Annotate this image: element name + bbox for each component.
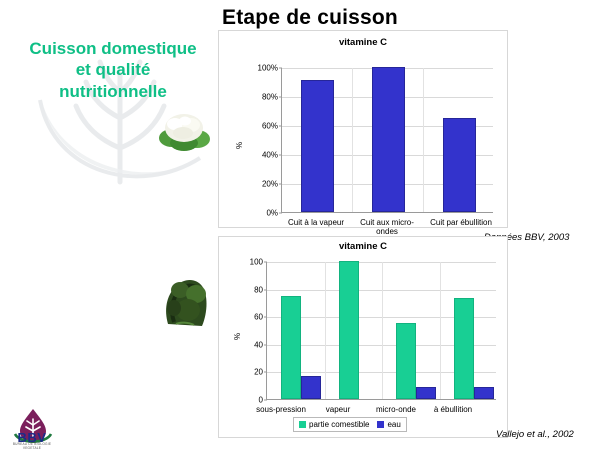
- chart2-xlabel-micro-onde: micro-onde: [367, 405, 425, 414]
- page-title: Etape de cuisson: [150, 6, 470, 30]
- subtitle-line-3: nutritionnelle: [8, 81, 218, 102]
- chart1-category-separator: [423, 68, 424, 212]
- chart1-xlabel-0: Cuit à la vapeur: [281, 218, 351, 227]
- chart2-tickmark: [264, 289, 267, 290]
- chart1-tickmark: [279, 126, 282, 127]
- chart2-bar-eau-micro-onde[interactable]: [416, 387, 436, 399]
- chart2-plot-area: 100 80 60 40 20 0: [266, 262, 496, 400]
- chart1-ytick-label: 60%: [262, 122, 278, 131]
- chart2-ytick-label: 0: [259, 396, 263, 405]
- chart2-bar-comestible-sous-pression[interactable]: [281, 296, 301, 400]
- chart2-ytick-label: 20: [254, 368, 263, 377]
- chart2-xlabel-ebullition: à ébullition: [424, 405, 482, 414]
- chart1-title: vitamine C: [219, 37, 507, 48]
- chart2-title: vitamine C: [219, 241, 507, 252]
- chart2-tickmark: [264, 344, 267, 345]
- chart1-xlabel-2: Cuit par ébullition: [423, 218, 499, 227]
- chart1-xlabel-1-line1: Cuit aux micro-: [352, 218, 422, 227]
- legend-item-partie-comestible[interactable]: partie comestible: [299, 420, 369, 429]
- chart1-tickmark: [279, 184, 282, 185]
- legend-swatch-green-icon: [299, 421, 306, 428]
- chart1-xlabel-0-line1: Cuit à la vapeur: [281, 218, 351, 227]
- chart1-ytick-label: 20%: [262, 180, 278, 189]
- chart2-ytick-label: 80: [254, 285, 263, 294]
- cauliflower-image: [155, 108, 213, 152]
- chart2-bar-comestible-vapeur[interactable]: [339, 261, 359, 399]
- source-note-chart2: Vallejo et al., 2002: [496, 429, 574, 440]
- chart1-xlabel-1-line2: ondes: [352, 227, 422, 236]
- chart-vitamine-c-bottom: vitamine C % 100 80 60 40 20 0: [218, 236, 508, 438]
- bbv-logo-tagline: BUREAU DE BIOLOGIE VEGETALE: [4, 442, 60, 450]
- subtitle-line-2: et qualité: [8, 59, 218, 80]
- legend-label-eau: eau: [387, 420, 400, 429]
- chart2-xlabel-sous-pression: sous-pression: [252, 405, 310, 414]
- slide-canvas: Etape de cuisson Cuisson domestique et q…: [0, 0, 600, 450]
- chart2-category-separator: [325, 262, 326, 399]
- chart1-plot-area: 100% 80% 60% 40% 20% 0%: [281, 68, 493, 213]
- chart1-bar-cuit-micro-ondes[interactable]: [372, 67, 405, 212]
- chart2-legend: partie comestible eau: [293, 417, 407, 432]
- chart2-tickmark: [264, 317, 267, 318]
- chart1-ytick-label: 100%: [258, 64, 278, 73]
- broccoli-image: [158, 272, 210, 328]
- chart1-bar-cuit-ebullition[interactable]: [443, 118, 476, 212]
- chart1-ytick-label: 40%: [262, 151, 278, 160]
- chart2-tickmark: [264, 372, 267, 373]
- chart2-category-separator: [382, 262, 383, 399]
- chart2-bar-comestible-micro-onde[interactable]: [396, 323, 416, 399]
- chart1-ytick-label: 0%: [266, 209, 278, 218]
- chart1-ytick-label: 80%: [262, 93, 278, 102]
- legend-label-partie-comestible: partie comestible: [309, 420, 369, 429]
- chart1-xlabel-1: Cuit aux micro- ondes: [352, 218, 422, 236]
- chart2-xlabel-vapeur: vapeur: [309, 405, 367, 414]
- chart1-xlabel-2-line1: Cuit par ébullition: [423, 218, 499, 227]
- chart2-ytick-label: 40: [254, 340, 263, 349]
- chart2-y-axis-title: %: [233, 333, 242, 340]
- chart1-y-axis-title: %: [235, 142, 244, 149]
- chart1-tickmark: [279, 68, 282, 69]
- chart2-bar-eau-ebullition[interactable]: [474, 387, 494, 399]
- chart1-bar-cuit-vapeur[interactable]: [301, 80, 334, 212]
- chart1-tickmark: [279, 155, 282, 156]
- chart1-tickmark: [279, 97, 282, 98]
- chart2-category-separator: [440, 262, 441, 399]
- chart2-bar-comestible-ebullition[interactable]: [454, 298, 474, 399]
- chart2-tickmark: [264, 400, 267, 401]
- subtitle-line-1: Cuisson domestique: [8, 38, 218, 59]
- legend-item-eau[interactable]: eau: [377, 420, 400, 429]
- chart2-bar-eau-sous-pression[interactable]: [301, 376, 321, 400]
- chart1-tickmark: [279, 213, 282, 214]
- chart2-ytick-label: 100: [250, 258, 263, 267]
- subtitle-green: Cuisson domestique et qualité nutritionn…: [8, 38, 218, 102]
- legend-swatch-blue-icon: [377, 421, 384, 428]
- chart-vitamine-c-top: vitamine C % 100% 80% 60% 40% 20% 0%: [218, 30, 508, 228]
- chart2-ytick-label: 60: [254, 313, 263, 322]
- chart2-tickmark: [264, 262, 267, 263]
- chart1-category-separator: [352, 68, 353, 212]
